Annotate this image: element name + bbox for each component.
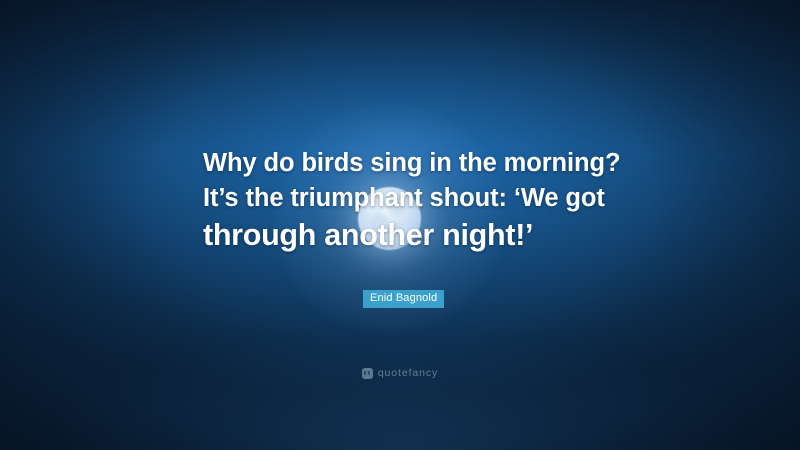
quote-text-block: Why do birds sing in the morning? It’s t…: [203, 146, 623, 254]
quote-line-1: Why do birds sing in the morning?: [203, 146, 623, 181]
watermark: quotefancy: [0, 367, 800, 379]
quote-wallpaper-canvas: Why do birds sing in the morning? It’s t…: [0, 0, 800, 450]
watermark-label: quotefancy: [378, 367, 438, 379]
quote-mark-icon: [362, 368, 373, 379]
quote-line-3: through another night!’: [203, 216, 623, 254]
quote-line-2: It’s the triumphant shout: ‘We got: [203, 181, 623, 216]
author-badge: Enid Bagnold: [363, 290, 444, 308]
